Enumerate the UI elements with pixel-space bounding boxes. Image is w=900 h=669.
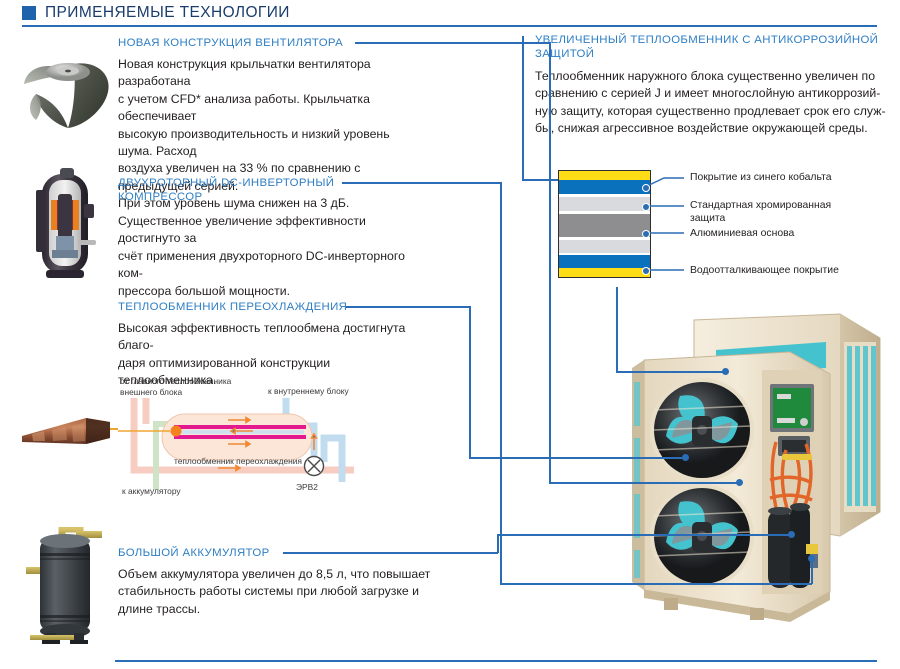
connector-fan-h1 xyxy=(355,42,550,44)
connector-hx-h1 xyxy=(522,179,558,181)
header-divider xyxy=(22,25,877,27)
layer-0 xyxy=(559,171,650,180)
connector-compressor-h2 xyxy=(500,583,812,585)
connector-compressor-v xyxy=(500,182,502,584)
connector-hx-h2 xyxy=(616,371,725,373)
connector-subcooler-h1 xyxy=(346,306,470,308)
connector-fan-v xyxy=(549,42,551,483)
layer-9 xyxy=(559,255,650,268)
connector-dot-upper-fan xyxy=(736,479,743,486)
page-title: ПРИМЕНЯЕМЫЕ ТЕХНОЛОГИИ xyxy=(45,4,290,22)
section-body-accumulator: Объем аккумулятора увеличен до 8,5 л, чт… xyxy=(118,566,448,618)
layer-dot-alu xyxy=(642,230,650,238)
layer-dot-cobalt xyxy=(642,184,650,192)
layer-5 xyxy=(559,214,650,237)
layer-label-water: Водоотталкивающее покрытие xyxy=(690,264,890,277)
connector-compressor-h1 xyxy=(342,182,501,184)
layer-10 xyxy=(559,268,650,277)
connector-accumulator-h1 xyxy=(283,552,498,554)
section-title-fan: НОВАЯ КОНСТРУКЦИЯ ВЕНТИЛЯТОРА xyxy=(118,36,358,50)
connector-compressor-v2 xyxy=(811,560,813,584)
layer-dot-chrome xyxy=(642,203,650,211)
section-title-compressor: ДВУХРОТОРНЫЙ DC-ИНВЕРТОРНЫЙ КОМПРЕССОР xyxy=(118,176,358,204)
compressor-cutaway-image xyxy=(22,166,110,284)
connector-dot-accumulator xyxy=(788,531,795,538)
layer-stack-diagram xyxy=(558,170,651,278)
section-title-subcooler: ТЕПЛООБМЕННИК ПЕРЕОХЛАЖДЕНИЯ xyxy=(118,300,368,314)
connector-accumulator-v xyxy=(497,534,499,553)
layer-dot-water xyxy=(642,267,650,275)
layer-label-alu: Алюминиевая основа xyxy=(690,227,880,240)
connector-subcooler-h2 xyxy=(469,457,685,459)
copper-pipe-image xyxy=(14,408,118,454)
layer-3 xyxy=(559,197,650,211)
schematic-label-to-accumulator: к аккумулятору xyxy=(122,486,232,497)
page-header: ПРИМЕНЯЕМЫЕ ТЕХНОЛОГИИ xyxy=(22,4,290,22)
outdoor-unit-photo xyxy=(630,312,898,642)
connector-subcooler-v xyxy=(469,306,471,458)
connector-fan-h2 xyxy=(549,482,739,484)
footer-divider xyxy=(115,660,877,662)
layer-label-cobalt: Покрытие из синего кобальта xyxy=(690,171,890,184)
connector-accumulator-h2 xyxy=(497,534,791,536)
blue-square-icon xyxy=(22,6,36,20)
connector-dot-compressor xyxy=(808,555,815,562)
connector-dot-subcooler xyxy=(682,454,689,461)
layer-label-chrome: Стандартная хромированная защита xyxy=(690,199,880,225)
subcooling-heat-exchanger-schematic: от главного теплообменника внешнего блок… xyxy=(118,378,388,500)
section-body-compressor: Существенное увеличение эффективности до… xyxy=(118,213,418,300)
section-body-heat-exchanger: Теплообменник наружного блока существенн… xyxy=(535,68,895,138)
layer-1 xyxy=(559,180,650,194)
accumulator-tank-image xyxy=(22,527,110,645)
fan-propeller-image xyxy=(16,36,120,140)
section-title-heat-exchanger: УВЕЛИЧЕННЫЙ ТЕПЛООБМЕННИК С АНТИКОРРОЗИЙ… xyxy=(535,33,895,61)
schematic-label-from-main: от главного теплообменника внешнего блок… xyxy=(120,376,270,397)
schematic-label-center: теплообменник переохлаждения xyxy=(174,456,334,467)
connector-hx-v2 xyxy=(616,287,618,372)
schematic-label-to-indoor: к внутреннему блоку xyxy=(268,386,388,397)
connector-hx-v1 xyxy=(522,36,524,180)
schematic-label-valve: ЭРВ2 xyxy=(296,482,356,493)
layer-7 xyxy=(559,240,650,253)
connector-dot-hx-top xyxy=(722,368,729,375)
